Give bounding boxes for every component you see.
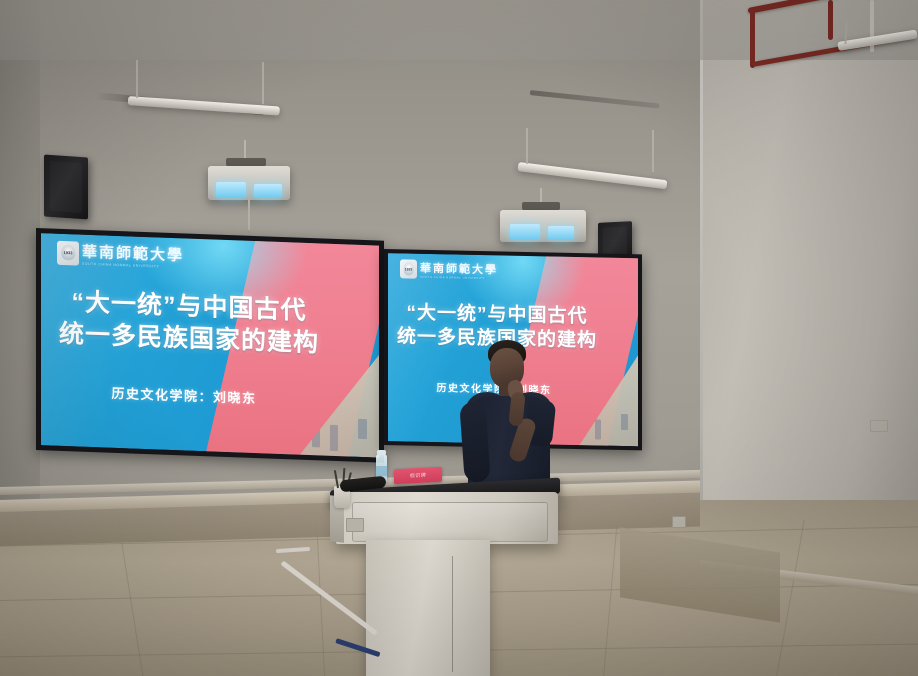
- wall-outlet[interactable]: [672, 516, 686, 528]
- projector-mount-right: [522, 202, 560, 210]
- projector-mount-left: [226, 158, 266, 166]
- logo-badge-year-right: 1933: [405, 267, 413, 271]
- projector-lens-right: [510, 224, 540, 240]
- fire-sprinkler-pipe-drop: [750, 10, 755, 68]
- desk-sign-label: 标识牌: [394, 471, 442, 481]
- projector-cable-left: [248, 198, 250, 230]
- lecture-hall-photo: 1933 華南師範大學 SOUTH CHINA NORMAL UNIVERSIT…: [0, 0, 918, 676]
- projector-lens-right-b: [548, 226, 574, 240]
- desk-sign[interactable]: 标识牌: [394, 467, 442, 485]
- water-bottle-label: [376, 466, 387, 476]
- logo-badge-right: 1933: [400, 259, 417, 278]
- fire-sprinkler-pipe-riser: [828, 0, 833, 40]
- light-hanger-left-b: [262, 62, 264, 104]
- water-bottle-cap: [377, 450, 386, 455]
- university-logo-right: 1933 華南師範大學 SOUTH CHINA NORMAL UNIVERSIT…: [400, 259, 498, 280]
- projector-lens-left-b: [254, 184, 282, 198]
- left-projection-screen[interactable]: 1933 華南師範大學 SOUTH CHINA NORMAL UNIVERSIT…: [36, 228, 384, 463]
- university-logo: 1933 華南師範大學 SOUTH CHINA NORMAL UNIVERSIT…: [57, 240, 184, 270]
- wall-speaker-left: [44, 154, 88, 219]
- logo-badge-year: 1933: [64, 250, 73, 255]
- light-hanger-right-b: [652, 130, 654, 172]
- slide-title: “大一统”与中国古代 统一多民族国家的建构: [45, 285, 333, 360]
- ceiling: [0, 0, 918, 60]
- light-hanger-left-a: [136, 60, 138, 98]
- lectern-port-panel[interactable]: [346, 518, 364, 532]
- presenter-arm-left: [459, 401, 491, 483]
- lectern-base-seam: [452, 556, 453, 672]
- wall-switch-plate[interactable]: [870, 420, 888, 432]
- logo-text-chinese-right: 華南師範大學: [420, 260, 498, 278]
- light-hanger-right-a: [526, 128, 528, 164]
- lectern-base: [366, 540, 490, 676]
- projector-lens-left: [216, 182, 246, 198]
- logo-badge: 1933: [57, 240, 79, 265]
- lectern-front-panel: [352, 502, 548, 542]
- slide-background: 1933 華南師範大學 SOUTH CHINA NORMAL UNIVERSIT…: [41, 233, 379, 457]
